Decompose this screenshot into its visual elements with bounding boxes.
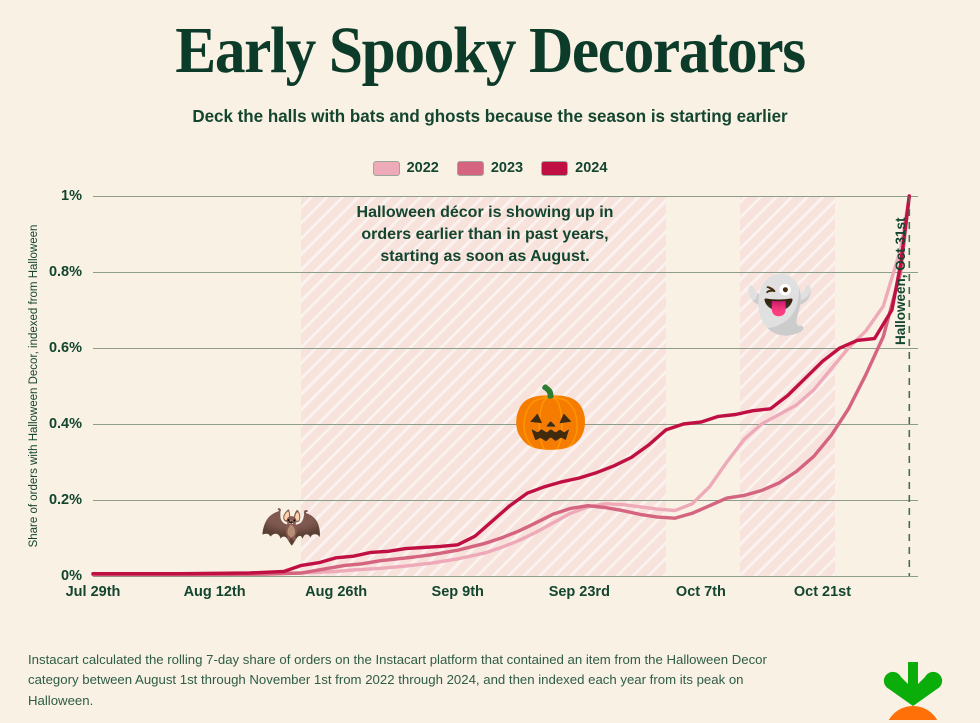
legend-swatch-2024 <box>541 161 568 176</box>
page-subtitle: Deck the halls with bats and ghosts beca… <box>15 106 966 127</box>
x-axis-tick-label: Sep 23rd <box>549 584 610 600</box>
y-axis-tick-label: 0.4% <box>49 416 82 432</box>
bat-icon: 🦇 <box>260 500 322 550</box>
footer-note: Instacart calculated the rolling 7-day s… <box>28 650 768 711</box>
halloween-marker-label: Halloween, Oct 31st <box>893 217 908 345</box>
gridline <box>93 576 918 577</box>
x-axis-tick-label: Oct 21st <box>794 584 851 600</box>
y-axis-label: Share of orders with Halloween Decor, in… <box>28 196 40 576</box>
chart-legend: 2022 2023 2024 <box>0 160 980 176</box>
y-axis-tick-label: 0% <box>61 568 82 584</box>
x-axis-tick-label: Aug 26th <box>305 584 367 600</box>
legend-swatch-2023 <box>457 161 484 176</box>
jack-o-lantern-icon: 🎃 <box>512 388 589 450</box>
page-title: Early Spooky Decorators <box>34 18 945 84</box>
instacart-carrot-logo <box>878 658 948 720</box>
x-axis-tick-label: Aug 12th <box>184 584 246 600</box>
legend-item-2022[interactable]: 2022 <box>373 160 439 176</box>
x-axis-tick-label: Jul 29th <box>66 584 121 600</box>
y-axis-tick-label: 0.8% <box>49 264 82 280</box>
y-axis-tick-label: 0.2% <box>49 492 82 508</box>
x-axis-tick-label: Sep 9th <box>432 584 484 600</box>
legend-label-2023: 2023 <box>491 160 523 176</box>
legend-label-2024: 2024 <box>575 160 607 176</box>
ghost-icon: 👻 <box>746 278 813 332</box>
legend-label-2022: 2022 <box>407 160 439 176</box>
legend-item-2023[interactable]: 2023 <box>457 160 523 176</box>
x-axis-tick-label: Oct 7th <box>676 584 726 600</box>
legend-swatch-2022 <box>373 161 400 176</box>
y-axis-tick-label: 1% <box>61 188 82 204</box>
legend-item-2024[interactable]: 2024 <box>541 160 607 176</box>
y-axis-tick-label: 0.6% <box>49 340 82 356</box>
chart-annotation: Halloween décor is showing up in orders … <box>330 202 640 268</box>
